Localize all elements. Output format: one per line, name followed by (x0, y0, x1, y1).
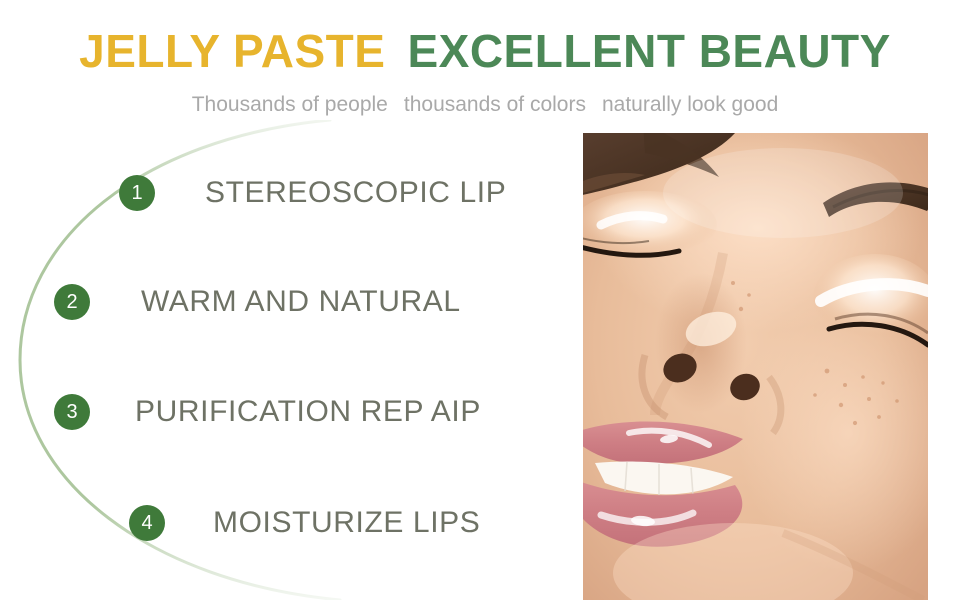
feature-item-1[interactable]: 1 STEREOSCOPIC LIP (119, 175, 506, 211)
title-tagline-text: EXCELLENT BEAUTY (407, 25, 890, 77)
feature-bullet-2: 2 (54, 284, 90, 320)
feature-label-2: WARM AND NATURAL (141, 287, 461, 317)
model-photo (583, 133, 928, 600)
feature-label-1: STEREOSCOPIC LIP (205, 178, 506, 208)
page-title: JELLY PASTEEXCELLENT BEAUTY (0, 28, 970, 74)
subtitle-segment-2: thousands of colors (404, 93, 586, 116)
subtitle-segment-1: Thousands of people (192, 93, 388, 116)
feature-item-2[interactable]: 2 WARM AND NATURAL (54, 284, 461, 320)
feature-label-4: MOISTURIZE LIPS (213, 508, 480, 538)
model-photo-illustration (583, 133, 928, 600)
feature-bullet-3: 3 (54, 394, 90, 430)
feature-bullet-1: 1 (119, 175, 155, 211)
feature-item-4[interactable]: 4 MOISTURIZE LIPS (129, 505, 480, 541)
feature-item-3[interactable]: 3 PURIFICATION REP AIP (54, 394, 481, 430)
feature-bullet-4: 4 (129, 505, 165, 541)
page-subtitle: Thousands of peoplethousands of colorsna… (0, 92, 970, 117)
feature-label-3: PURIFICATION REP AIP (135, 397, 481, 427)
title-brand-text: JELLY PASTE (79, 25, 385, 77)
promo-banner: JELLY PASTEEXCELLENT BEAUTY Thousands of… (0, 0, 970, 600)
subtitle-segment-3: naturally look good (602, 93, 778, 116)
